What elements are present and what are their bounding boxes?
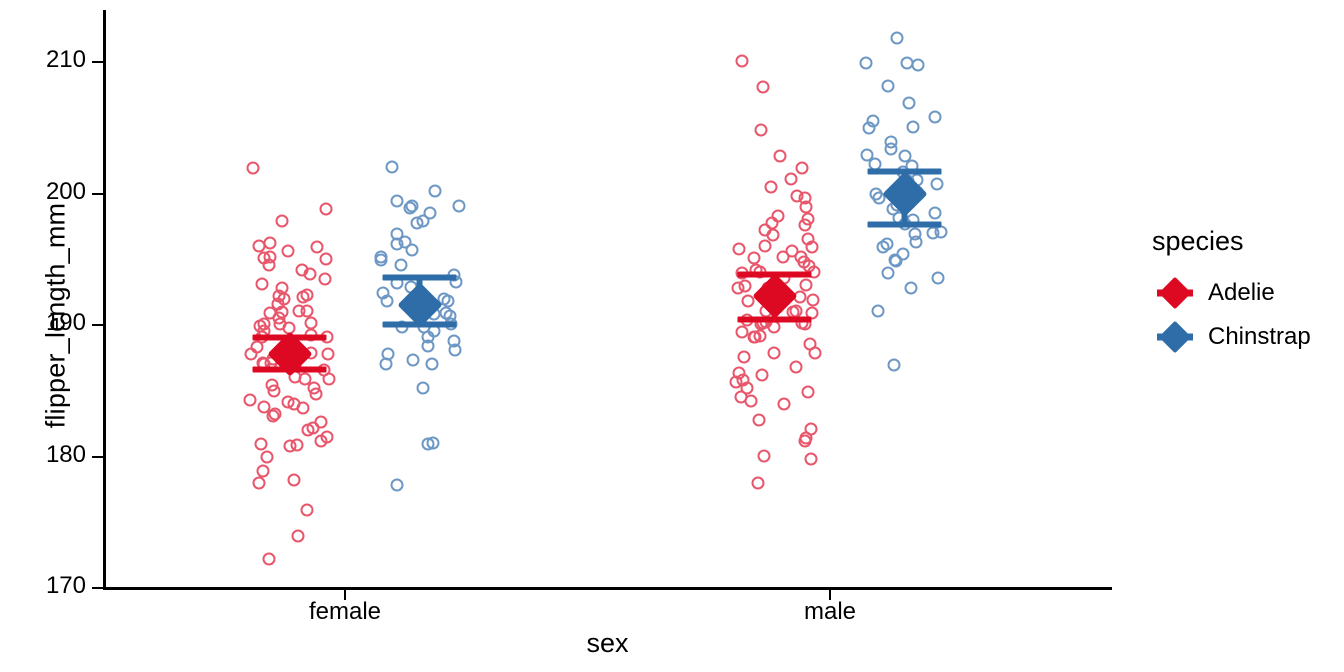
data-point bbox=[322, 347, 335, 360]
data-point bbox=[799, 434, 812, 447]
data-point bbox=[438, 292, 451, 305]
data-point bbox=[304, 267, 317, 280]
data-point bbox=[785, 173, 798, 186]
data-point bbox=[428, 308, 441, 321]
data-point bbox=[258, 318, 271, 331]
error-bar bbox=[290, 353, 291, 354]
data-point bbox=[310, 241, 323, 254]
data-point bbox=[777, 250, 790, 263]
data-point bbox=[891, 31, 904, 44]
data-point bbox=[778, 271, 791, 284]
data-point bbox=[263, 237, 276, 250]
legend-item-adelie[interactable]: Adelie bbox=[1152, 273, 1311, 313]
y-tick bbox=[92, 324, 103, 326]
chart-root: flipper_length_mm sex 170180190200210 fe… bbox=[0, 0, 1344, 672]
data-point bbox=[754, 330, 767, 343]
data-point bbox=[777, 397, 790, 410]
error-bar-cap-lower bbox=[253, 366, 327, 372]
data-point bbox=[906, 121, 919, 134]
data-point bbox=[262, 553, 275, 566]
data-point bbox=[748, 330, 761, 343]
data-point bbox=[374, 250, 387, 263]
data-point bbox=[244, 393, 257, 406]
data-point bbox=[759, 316, 772, 329]
data-point bbox=[752, 413, 765, 426]
data-point bbox=[246, 162, 259, 175]
legend-swatch-diamond-icon bbox=[1152, 317, 1198, 357]
data-point bbox=[899, 149, 912, 162]
data-point bbox=[745, 395, 758, 408]
data-point bbox=[427, 324, 440, 337]
data-point bbox=[903, 96, 916, 109]
data-point bbox=[804, 337, 817, 350]
data-point bbox=[904, 282, 917, 295]
data-point bbox=[417, 382, 430, 395]
x-axis-title: sex bbox=[103, 628, 1112, 659]
data-point bbox=[732, 242, 745, 255]
data-point bbox=[307, 421, 320, 434]
data-point bbox=[440, 307, 453, 320]
x-tick-label: male bbox=[804, 598, 856, 626]
data-point bbox=[399, 236, 412, 249]
y-tick-label: 210 bbox=[0, 46, 86, 74]
data-point bbox=[244, 348, 257, 361]
data-point bbox=[443, 309, 456, 322]
data-point bbox=[318, 364, 331, 377]
data-point bbox=[269, 408, 282, 421]
data-point bbox=[296, 264, 309, 277]
data-point bbox=[276, 306, 289, 319]
data-point bbox=[873, 192, 886, 205]
data-point bbox=[422, 340, 435, 353]
error-bar-stem bbox=[287, 338, 293, 370]
y-tick-label: 200 bbox=[0, 178, 86, 206]
data-point bbox=[453, 199, 466, 212]
error-bar bbox=[905, 198, 906, 199]
data-point bbox=[288, 474, 301, 487]
data-point bbox=[267, 409, 280, 422]
data-point bbox=[890, 199, 903, 212]
data-point bbox=[423, 206, 436, 219]
data-point bbox=[395, 258, 408, 271]
data-point bbox=[444, 317, 457, 330]
data-point bbox=[759, 240, 772, 253]
data-point bbox=[793, 290, 806, 303]
data-point bbox=[268, 384, 281, 397]
data-point bbox=[256, 464, 269, 477]
data-point bbox=[889, 255, 902, 268]
data-point bbox=[907, 213, 920, 226]
data-point bbox=[929, 207, 942, 220]
data-point bbox=[287, 397, 300, 410]
data-point bbox=[889, 254, 902, 267]
data-point bbox=[427, 436, 440, 449]
data-point bbox=[407, 353, 420, 366]
data-point bbox=[755, 317, 768, 330]
data-point bbox=[256, 330, 269, 343]
error-bar-cap-upper bbox=[383, 274, 457, 280]
data-point bbox=[799, 219, 812, 232]
data-point bbox=[307, 382, 320, 395]
data-point bbox=[314, 415, 327, 428]
data-point bbox=[323, 373, 336, 386]
data-point bbox=[321, 331, 334, 344]
data-point bbox=[736, 55, 749, 68]
error-bar-cap-upper bbox=[738, 272, 812, 278]
data-point bbox=[309, 387, 322, 400]
data-point bbox=[908, 228, 921, 241]
data-point bbox=[256, 278, 269, 291]
data-point bbox=[756, 317, 769, 330]
error-bar-cap-upper bbox=[868, 169, 942, 175]
data-point bbox=[909, 236, 922, 249]
data-point bbox=[274, 318, 287, 331]
data-point bbox=[284, 439, 297, 452]
data-point bbox=[871, 305, 884, 318]
data-point bbox=[275, 215, 288, 228]
data-point bbox=[807, 293, 820, 306]
mean-marker bbox=[267, 331, 312, 376]
data-point bbox=[374, 254, 387, 267]
error-bar-stem bbox=[902, 172, 908, 225]
data-point bbox=[741, 382, 754, 395]
data-point bbox=[304, 316, 317, 329]
data-point bbox=[732, 281, 745, 294]
data-point bbox=[765, 216, 778, 229]
data-point bbox=[448, 334, 461, 347]
data-point bbox=[441, 294, 454, 307]
data-point bbox=[897, 247, 910, 260]
data-point bbox=[390, 277, 403, 290]
data-point bbox=[770, 298, 783, 311]
data-point bbox=[253, 240, 266, 253]
data-point bbox=[265, 378, 278, 391]
error-bar-cap-lower bbox=[738, 316, 812, 322]
data-point bbox=[391, 238, 404, 251]
data-point bbox=[376, 286, 389, 299]
data-point bbox=[771, 284, 784, 297]
data-point bbox=[877, 241, 890, 254]
x-tick-label: female bbox=[309, 598, 381, 626]
data-point bbox=[263, 307, 276, 320]
data-point bbox=[911, 185, 924, 198]
data-point bbox=[296, 402, 309, 415]
x-axis-line bbox=[103, 587, 1112, 590]
data-point bbox=[796, 316, 809, 329]
data-point bbox=[808, 265, 821, 278]
data-point bbox=[801, 386, 814, 399]
data-point bbox=[291, 438, 304, 451]
data-point bbox=[870, 188, 883, 201]
data-point bbox=[320, 253, 333, 266]
data-point bbox=[886, 203, 899, 216]
data-point bbox=[806, 240, 819, 253]
legend-title: species bbox=[1152, 226, 1311, 257]
data-point bbox=[277, 293, 290, 306]
data-point bbox=[910, 173, 923, 186]
data-point bbox=[867, 114, 880, 127]
data-point bbox=[319, 272, 332, 285]
legend-item-label: Adelie bbox=[1208, 279, 1275, 307]
data-point bbox=[251, 341, 264, 354]
data-point bbox=[751, 476, 764, 489]
data-point bbox=[926, 227, 939, 240]
y-axis-line bbox=[103, 10, 106, 590]
data-point bbox=[735, 266, 748, 279]
data-point bbox=[860, 149, 873, 162]
data-point bbox=[391, 479, 404, 492]
data-point bbox=[798, 317, 811, 330]
mean-marker bbox=[882, 171, 927, 216]
data-point bbox=[264, 251, 277, 264]
data-point bbox=[770, 291, 783, 304]
data-point bbox=[934, 226, 947, 239]
data-point bbox=[768, 321, 781, 334]
data-point bbox=[892, 212, 905, 225]
y-tick-label: 190 bbox=[0, 309, 86, 337]
data-point bbox=[738, 350, 751, 363]
data-point bbox=[905, 159, 918, 172]
data-point bbox=[790, 189, 803, 202]
data-point bbox=[774, 149, 787, 162]
data-point bbox=[863, 122, 876, 135]
data-point bbox=[265, 356, 278, 369]
data-point bbox=[381, 294, 394, 307]
data-point bbox=[882, 79, 895, 92]
error-bar-stem bbox=[417, 277, 423, 324]
data-point bbox=[301, 304, 314, 317]
data-point bbox=[869, 158, 882, 171]
data-point bbox=[297, 291, 310, 304]
data-point bbox=[762, 281, 775, 294]
data-point bbox=[449, 343, 462, 356]
data-point bbox=[253, 477, 266, 490]
data-point bbox=[790, 304, 803, 317]
data-point bbox=[912, 58, 925, 71]
data-point bbox=[757, 80, 770, 93]
data-point bbox=[271, 297, 284, 310]
data-point bbox=[789, 361, 802, 374]
data-point bbox=[755, 124, 768, 137]
data-point bbox=[803, 259, 816, 272]
data-point bbox=[405, 281, 418, 294]
error-bar bbox=[420, 301, 421, 302]
data-point bbox=[298, 372, 311, 385]
data-point bbox=[928, 111, 941, 124]
data-point bbox=[273, 311, 286, 324]
data-point bbox=[404, 201, 417, 214]
data-point bbox=[896, 166, 909, 179]
data-point bbox=[795, 162, 808, 175]
data-point bbox=[741, 294, 754, 307]
data-point bbox=[747, 252, 760, 265]
data-point bbox=[758, 449, 771, 462]
data-point bbox=[381, 347, 394, 360]
data-point bbox=[747, 330, 760, 343]
y-tick-label: 180 bbox=[0, 441, 86, 469]
data-point bbox=[759, 305, 772, 318]
data-point bbox=[293, 305, 306, 318]
y-tick-label: 170 bbox=[0, 572, 86, 600]
data-point bbox=[288, 370, 301, 383]
data-point bbox=[730, 375, 743, 388]
data-point bbox=[859, 57, 872, 70]
data-point bbox=[900, 57, 913, 70]
error-bar-stem bbox=[772, 275, 778, 320]
data-point bbox=[750, 264, 763, 277]
plot-panel bbox=[0, 0, 1344, 672]
data-point bbox=[305, 346, 318, 359]
error-bar bbox=[775, 297, 776, 298]
data-point bbox=[885, 135, 898, 148]
mean-marker bbox=[752, 273, 797, 318]
error-bar-cap-upper bbox=[253, 335, 327, 341]
data-point bbox=[799, 200, 812, 213]
data-point bbox=[801, 232, 814, 245]
data-point bbox=[931, 271, 944, 284]
data-point bbox=[766, 229, 779, 242]
data-point bbox=[319, 202, 332, 215]
data-point bbox=[767, 347, 780, 360]
data-point bbox=[737, 373, 750, 386]
data-point bbox=[426, 358, 439, 371]
data-point bbox=[885, 143, 898, 156]
data-point bbox=[283, 321, 296, 334]
data-point bbox=[804, 423, 817, 436]
data-point bbox=[288, 359, 301, 372]
data-point bbox=[391, 228, 404, 241]
data-point bbox=[272, 290, 285, 303]
data-point bbox=[785, 244, 798, 257]
data-point bbox=[772, 209, 785, 222]
data-point bbox=[802, 212, 815, 225]
legend: species AdelieChinstrap bbox=[1152, 226, 1311, 361]
data-point bbox=[732, 367, 745, 380]
data-point bbox=[417, 321, 430, 334]
data-point bbox=[800, 432, 813, 445]
data-point bbox=[266, 353, 279, 366]
data-point bbox=[406, 244, 419, 257]
data-point bbox=[888, 358, 901, 371]
legend-item-chinstrap[interactable]: Chinstrap bbox=[1152, 317, 1311, 357]
data-point bbox=[416, 214, 429, 227]
data-point bbox=[881, 267, 894, 280]
data-point bbox=[380, 358, 393, 371]
data-point bbox=[390, 194, 403, 207]
error-bar-cap-lower bbox=[383, 321, 457, 327]
data-point bbox=[301, 503, 314, 516]
data-point bbox=[798, 255, 811, 268]
y-tick bbox=[92, 61, 103, 63]
data-point bbox=[735, 325, 748, 338]
data-point bbox=[320, 431, 333, 444]
data-point bbox=[800, 278, 813, 291]
data-point bbox=[258, 325, 271, 338]
data-point bbox=[396, 321, 409, 334]
data-point bbox=[740, 313, 753, 326]
data-point bbox=[753, 266, 766, 279]
data-point bbox=[257, 251, 270, 264]
data-point bbox=[281, 244, 294, 257]
data-point bbox=[758, 224, 771, 237]
data-point bbox=[448, 268, 461, 281]
data-point bbox=[287, 345, 300, 358]
data-point bbox=[755, 369, 768, 382]
data-point bbox=[765, 181, 778, 194]
data-point bbox=[794, 251, 807, 264]
data-point bbox=[787, 305, 800, 318]
data-point bbox=[450, 275, 463, 288]
data-point bbox=[254, 437, 267, 450]
data-point bbox=[253, 320, 266, 333]
data-point bbox=[930, 178, 943, 191]
error-bar-cap-lower bbox=[868, 222, 942, 228]
data-point bbox=[881, 238, 894, 251]
data-point bbox=[422, 330, 435, 343]
data-point bbox=[257, 357, 270, 370]
legend-swatch-diamond-icon bbox=[1152, 273, 1198, 313]
data-point bbox=[898, 217, 911, 230]
data-point bbox=[261, 450, 274, 463]
data-point bbox=[262, 259, 275, 272]
data-point bbox=[281, 396, 294, 409]
data-point bbox=[275, 282, 288, 295]
data-point bbox=[291, 529, 304, 542]
data-point bbox=[429, 185, 442, 198]
legend-item-label: Chinstrap bbox=[1208, 323, 1311, 351]
data-point bbox=[304, 329, 317, 342]
data-point bbox=[385, 160, 398, 173]
data-point bbox=[300, 288, 313, 301]
data-point bbox=[422, 437, 435, 450]
data-point bbox=[799, 192, 812, 205]
data-point bbox=[734, 391, 747, 404]
y-tick bbox=[92, 193, 103, 195]
y-tick bbox=[92, 587, 103, 589]
data-point bbox=[405, 200, 418, 213]
legend-items: AdelieChinstrap bbox=[1152, 273, 1311, 357]
data-point bbox=[902, 175, 915, 188]
data-point bbox=[410, 216, 423, 229]
data-point bbox=[257, 400, 270, 413]
data-point bbox=[406, 297, 419, 310]
data-point bbox=[257, 358, 270, 371]
data-point bbox=[739, 280, 752, 293]
data-point bbox=[806, 306, 819, 319]
data-point bbox=[301, 423, 314, 436]
mean-marker bbox=[397, 283, 442, 328]
y-tick bbox=[92, 456, 103, 458]
data-point bbox=[808, 347, 821, 360]
data-point bbox=[805, 453, 818, 466]
data-point bbox=[314, 434, 327, 447]
